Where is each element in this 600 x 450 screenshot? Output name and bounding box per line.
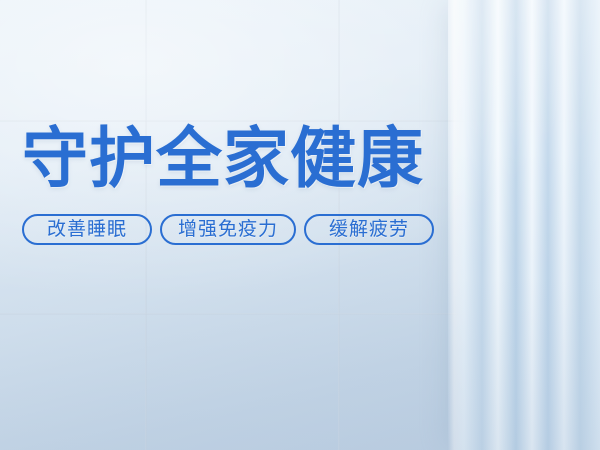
benefit-tag-boost-immunity[interactable]: 增强免疫力 bbox=[160, 214, 296, 245]
promo-banner: 守护全家健康 改善睡眠 增强免疫力 缓解疲劳 bbox=[0, 0, 600, 450]
benefit-tag-improve-sleep[interactable]: 改善睡眠 bbox=[22, 214, 152, 245]
headline-text: 守护全家健康 bbox=[22, 126, 578, 192]
benefit-tag-relieve-fatigue[interactable]: 缓解疲劳 bbox=[304, 214, 434, 245]
banner-content: 守护全家健康 改善睡眠 增强免疫力 缓解疲劳 bbox=[22, 126, 578, 245]
benefit-tag-row: 改善睡眠 增强免疫力 缓解疲劳 bbox=[22, 214, 578, 245]
